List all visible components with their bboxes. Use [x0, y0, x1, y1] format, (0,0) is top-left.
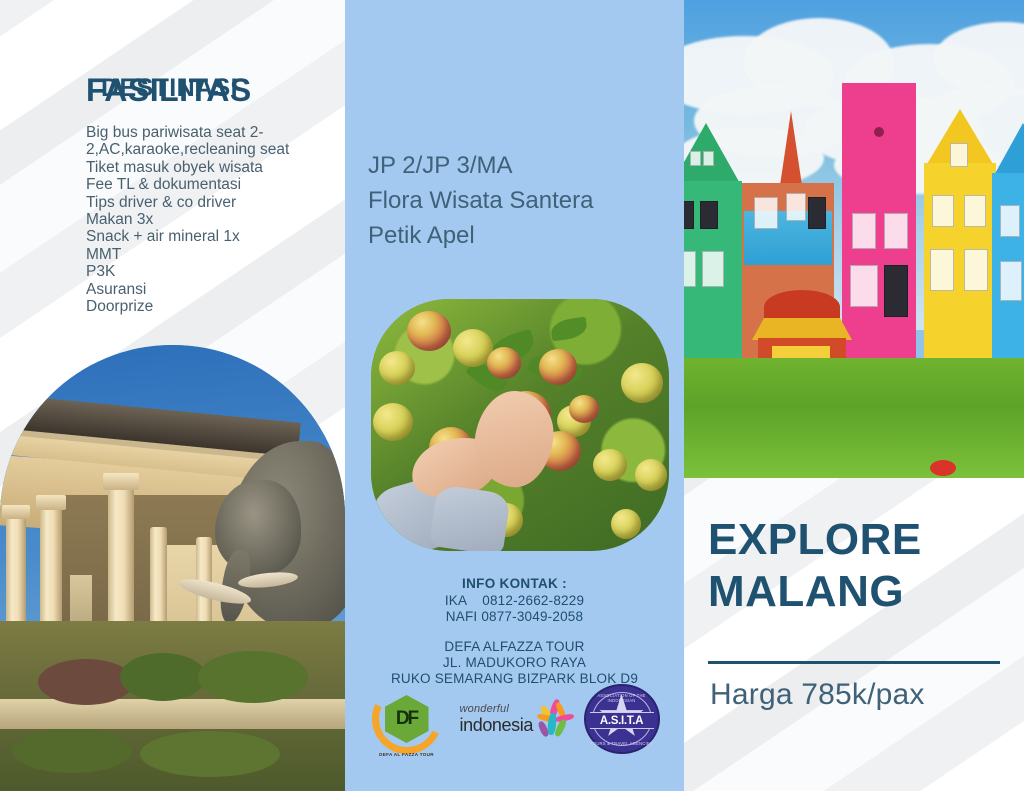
- facility-item: MMT: [86, 246, 301, 263]
- facility-item: Big bus pariwisata seat 2-2,AC,karaoke,r…: [86, 124, 301, 159]
- price-label: Harga 785k/pax: [710, 678, 925, 712]
- destination-item: JP 2/JP 3/MA: [368, 148, 668, 183]
- contact-block: INFO KONTAK : IKA 0812-2662-8229 NAFI 08…: [345, 576, 684, 687]
- sleeve: [429, 484, 511, 551]
- logo-row: DF DEFA AL FAZZA TOUR wonderful indonesi…: [345, 678, 684, 760]
- destination-item: Petik Apel: [368, 218, 668, 253]
- price-divider: [708, 661, 1000, 664]
- facility-item: Tips driver & co driver: [86, 194, 301, 211]
- title-line-1: EXPLORE: [708, 514, 1018, 566]
- wonderful-text: wonderful: [460, 704, 533, 715]
- right-panel: [684, 0, 1024, 791]
- contact-title: INFO KONTAK :: [345, 576, 684, 591]
- destinasi-list: JP 2/JP 3/MA Flora Wisata Santera Petik …: [368, 148, 668, 253]
- house-green: [684, 123, 742, 373]
- asita-bottom-text: TOURS & TRAVEL AGENCIES: [586, 741, 658, 746]
- title-line-2: MALANG: [708, 566, 1018, 618]
- facility-item: Snack + air mineral 1x: [86, 228, 301, 245]
- contact-person-ika: IKA 0812-2662-8229: [345, 593, 684, 609]
- facility-item: P3K: [86, 263, 301, 280]
- house-pink: [842, 83, 916, 373]
- facility-item: Fee TL & dokumentasi: [86, 176, 301, 193]
- address-line: JL. MADUKORO RAYA: [345, 655, 684, 671]
- defa-logo-caption: DEFA AL FAZZA TOUR: [370, 752, 444, 757]
- colorful-houses-photo: [684, 0, 1024, 478]
- contact-name: NAFI: [446, 609, 478, 624]
- house-yellow: [924, 109, 996, 373]
- wonderful-indonesia-mark-icon: [535, 699, 568, 739]
- wonderful-indonesia-logo: wonderful indonesia: [460, 696, 568, 742]
- address-line: DEFA ALFAZZA TOUR: [345, 639, 684, 655]
- fasilitas-list: Big bus pariwisata seat 2-2,AC,karaoke,r…: [86, 124, 301, 315]
- contact-name: IKA: [445, 593, 467, 608]
- facility-item: Doorprize: [86, 298, 301, 315]
- facility-item: Asuransi: [86, 281, 301, 298]
- house-blue: [992, 123, 1024, 373]
- facility-item: Makan 3x: [86, 211, 301, 228]
- apple-picking-photo: [371, 299, 669, 551]
- destinasi-heading: DESTINASI: [0, 74, 339, 103]
- asita-logo: ASSOCIATION OF THE INDONESIAN A.S.I.T.A …: [584, 684, 660, 754]
- defa-logo: DF DEFA AL FAZZA TOUR: [370, 682, 444, 756]
- contact-phone: 0812-2662-8229: [482, 593, 584, 608]
- asita-acronym: A.S.I.T.A: [590, 712, 654, 729]
- contact-phone: 0877-3049-2058: [481, 609, 583, 624]
- explore-title: EXPLORE MALANG: [708, 514, 1018, 618]
- brochure-page: FASILITAS Big bus pariwisata seat 2-2,AC…: [0, 0, 1024, 791]
- temple-elephant-photo: [0, 345, 345, 791]
- contact-person-nafi: NAFI 0877-3049-2058: [345, 609, 684, 625]
- facility-item: Tiket masuk obyek wisata: [86, 159, 301, 176]
- destination-item: Flora Wisata Santera: [368, 183, 668, 218]
- left-panel: FASILITAS Big bus pariwisata seat 2-2,AC…: [0, 0, 345, 791]
- indonesia-text: indonesia: [460, 716, 533, 734]
